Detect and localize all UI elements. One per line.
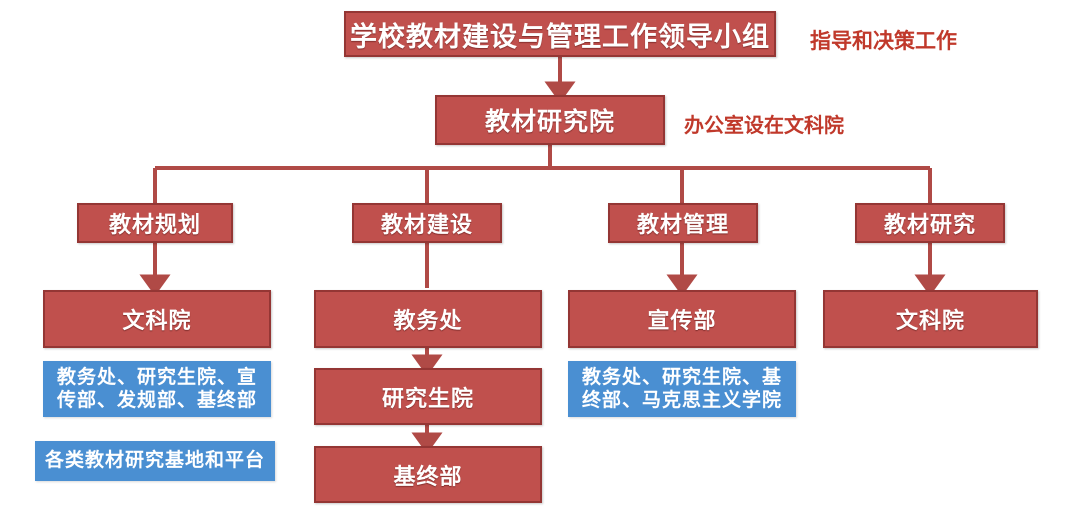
node-category-management-label: 教材管理 [637,207,729,239]
node-members-management-1-label: 教务处、研究生院、基终部、马克思主义学院 [577,366,787,412]
node-chain-graduate-school-label: 研究生院 [382,381,474,413]
node-unit-academic-affairs[interactable]: 教务处 [314,290,542,348]
node-members-management-1[interactable]: 教务处、研究生院、基终部、马克思主义学院 [568,361,796,417]
node-members-planning-1-label: 教务处、研究生院、宣传部、发规部、基终部 [52,366,262,412]
node-category-construction[interactable]: 教材建设 [352,203,502,243]
node-chain-lifelong-education-label: 基终部 [393,459,462,491]
node-members-planning-2[interactable]: 各类教材研究基地和平台 [35,441,275,481]
node-category-management[interactable]: 教材管理 [608,203,758,243]
node-unit-label-3: 宣传部 [647,303,716,335]
node-unit-label-1: 文科院 [122,303,191,335]
node-category-planning[interactable]: 教材规划 [77,203,233,243]
node-members-planning-2-label: 各类教材研究基地和平台 [45,449,265,472]
node-unit-liberal-arts-college-2[interactable]: 文科院 [823,290,1038,348]
node-category-construction-label: 教材建设 [381,207,473,239]
node-textbook-institute[interactable]: 教材研究院 [435,95,665,145]
node-category-planning-label: 教材规划 [109,207,201,239]
node-textbook-institute-label: 教材研究院 [485,102,615,138]
node-category-research[interactable]: 教材研究 [855,203,1005,243]
annotation-textbook-institute: 办公室设在文科院 [684,109,844,138]
node-category-research-label: 教材研究 [884,207,976,239]
node-members-planning-1[interactable]: 教务处、研究生院、宣传部、发规部、基终部 [43,361,271,417]
node-unit-publicity-dept[interactable]: 宣传部 [568,290,796,348]
node-unit-label-4: 文科院 [896,303,965,335]
node-unit-label-2: 教务处 [393,303,462,335]
node-leading-group-label: 学校教材建设与管理工作领导小组 [350,15,770,54]
node-unit-liberal-arts-college-1[interactable]: 文科院 [43,290,271,348]
node-chain-graduate-school[interactable]: 研究生院 [314,368,542,425]
annotation-leading-group: 指导和决策工作 [810,25,957,55]
node-chain-lifelong-education[interactable]: 基终部 [314,446,542,503]
org-chart-canvas: 学校教材建设与管理工作领导小组 指导和决策工作 教材研究院 办公室设在文科院 教… [0,0,1080,526]
node-leading-group[interactable]: 学校教材建设与管理工作领导小组 [344,11,776,57]
